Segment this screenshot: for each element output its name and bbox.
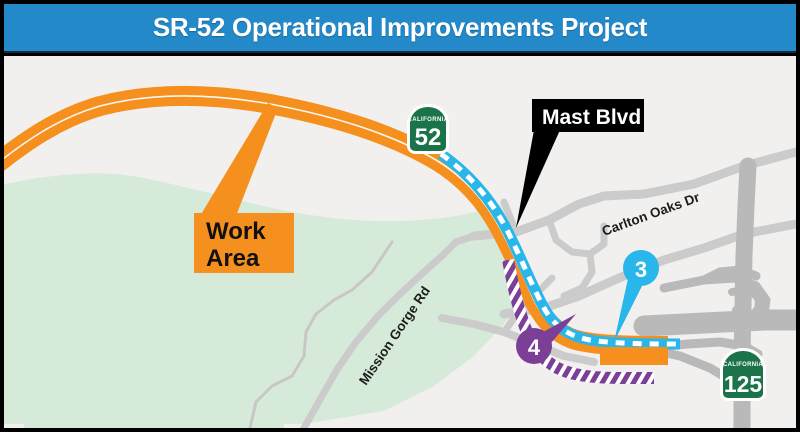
map-graphic: SR-52 Operational Improvements Project	[0, 0, 800, 432]
marker-4-number: 4	[528, 335, 541, 360]
title-banner: SR-52 Operational Improvements Project	[4, 4, 796, 53]
shield-sr-125-number: 125	[724, 371, 763, 397]
shield-sr-52[interactable]: CALIFORNIA 52	[407, 104, 449, 154]
callout-work-area-line2: Area	[206, 245, 260, 272]
shield-sr-52-number: 52	[415, 124, 442, 151]
shield-sr-125-state: CALIFORNIA	[723, 362, 763, 368]
page-title: SR-52 Operational Improvements Project	[153, 12, 647, 43]
ramp-east-out	[764, 316, 796, 320]
callout-work-area-line1: Work	[206, 218, 266, 245]
shield-sr-125[interactable]: CALIFORNIA 125	[720, 348, 766, 401]
map-canvas[interactable]: Work Area Mast Blvd Carlton Oaks Dr Miss…	[4, 56, 796, 428]
shield-sr-52-state: CALIFORNIA	[408, 117, 449, 123]
marker-3-number: 3	[635, 257, 647, 282]
callout-mast-blvd-label: Mast Blvd	[542, 106, 641, 129]
